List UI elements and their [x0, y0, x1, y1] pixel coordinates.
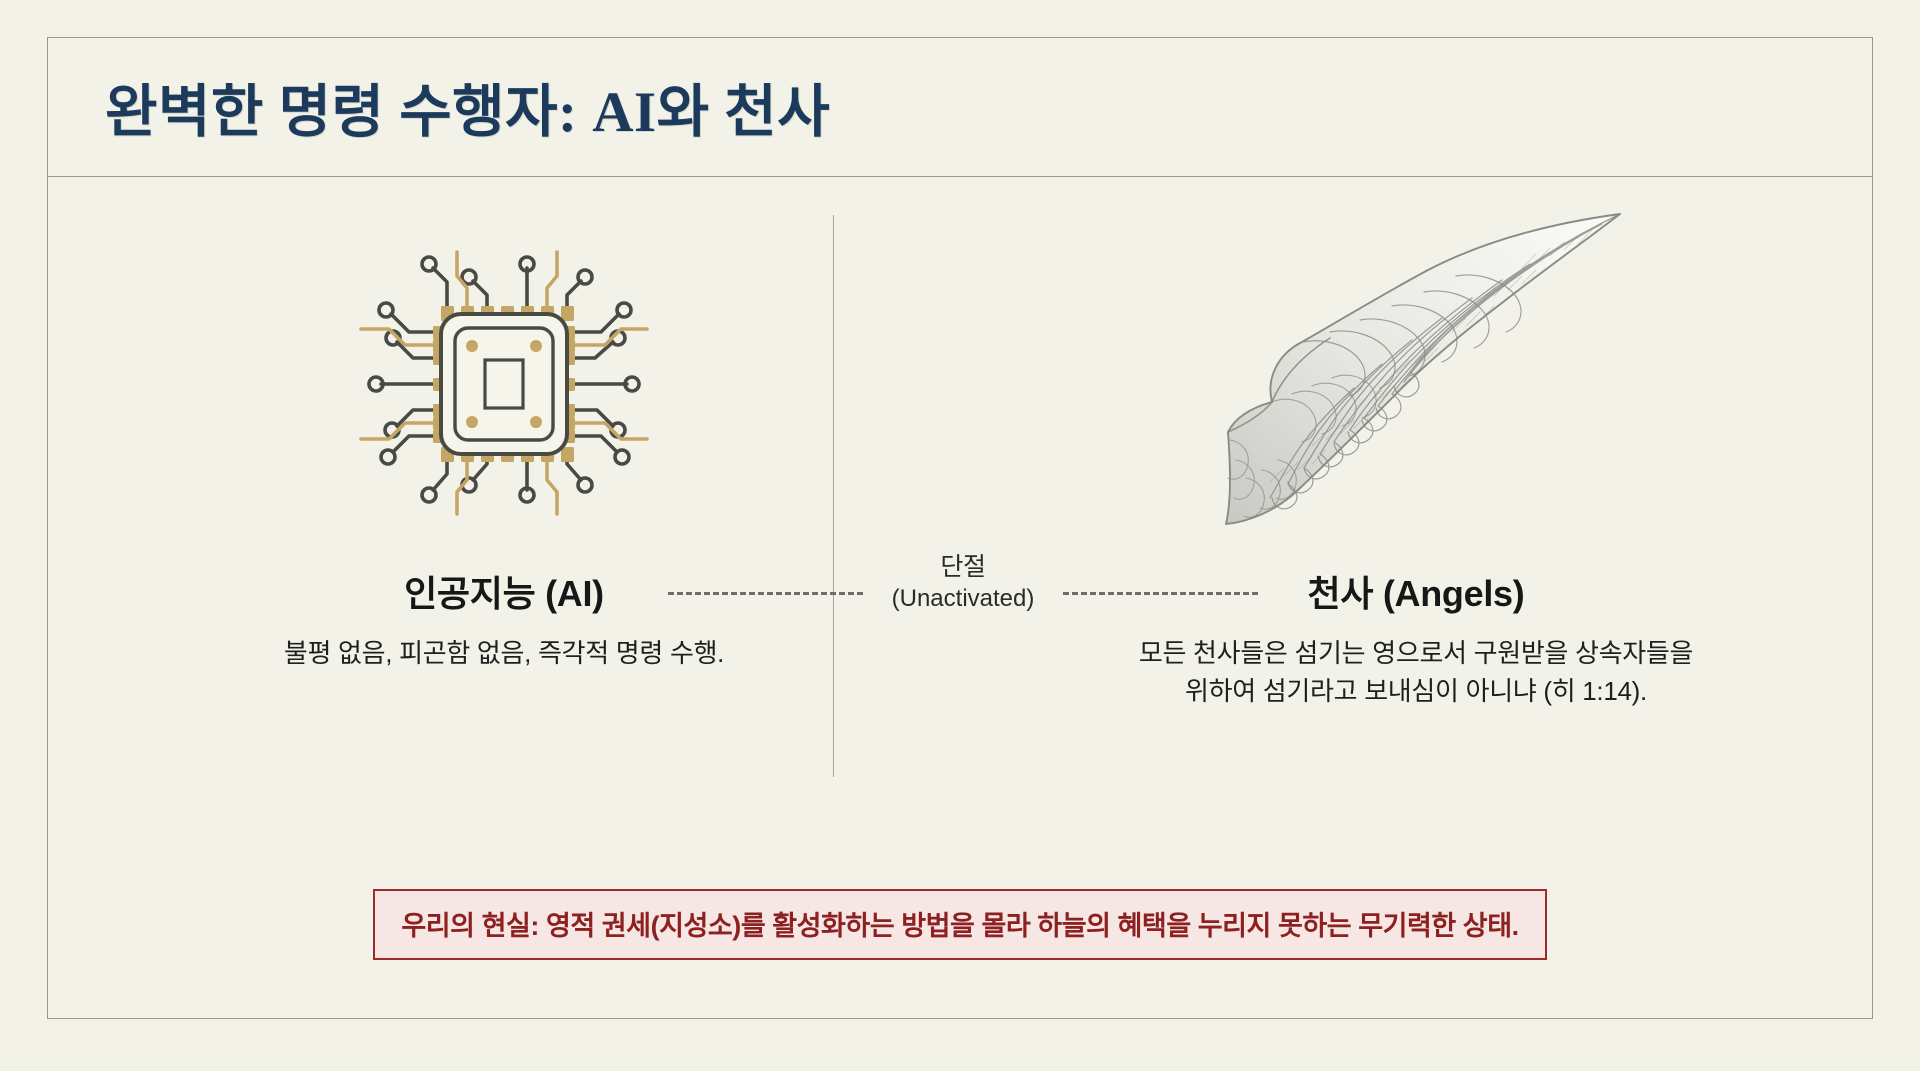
angels-description-line-1: 모든 천사들은 섬기는 영으로서 구원받을 상속자들을: [1139, 635, 1693, 673]
cpu-chip-icon: [339, 202, 669, 532]
ai-description: 불평 없음, 피곤함 없음, 즉각적 명령 수행.: [284, 635, 724, 673]
page-title: 완벽한 명령 수행자: AI와 천사: [105, 66, 830, 148]
angel-wing-icon: [1206, 202, 1636, 532]
ai-description-line: 불평 없음, 피곤함 없음, 즉각적 명령 수행.: [284, 635, 724, 673]
column-ai: 인공지능 (AI) 불평 없음, 피곤함 없음, 즉각적 명령 수행.: [48, 177, 960, 710]
ai-heading: 인공지능 (AI): [404, 565, 604, 617]
reality-alert-banner: 우리의 현실: 영적 권세(지성소)를 활성화하는 방법을 몰라 하늘의 혜택을…: [373, 889, 1546, 960]
column-angels: 천사 (Angels) 모든 천사들은 섬기는 영으로서 구원받을 상속자들을 …: [960, 177, 1872, 710]
comparison-columns: 인공지능 (AI) 불평 없음, 피곤함 없음, 즉각적 명령 수행.: [48, 177, 1872, 710]
slide-title-band: 완벽한 명령 수행자: AI와 천사: [48, 38, 1872, 177]
ai-art-slot: [48, 187, 960, 547]
angels-description: 모든 천사들은 섬기는 영으로서 구원받을 상속자들을 위하여 섬기라고 보내심…: [1139, 635, 1693, 710]
angels-description-line-2: 위하여 섬기라고 보내심이 아니냐 (히 1:14).: [1139, 673, 1693, 711]
slide-frame: 완벽한 명령 수행자: AI와 천사: [47, 37, 1873, 1019]
slide-body: 인공지능 (AI) 불평 없음, 피곤함 없음, 즉각적 명령 수행.: [48, 177, 1872, 1018]
angels-heading: 천사 (Angels): [1308, 565, 1525, 617]
angel-art-slot: [960, 187, 1872, 547]
alert-banner-wrap: 우리의 현실: 영적 권세(지성소)를 활성화하는 방법을 몰라 하늘의 혜택을…: [48, 889, 1872, 960]
